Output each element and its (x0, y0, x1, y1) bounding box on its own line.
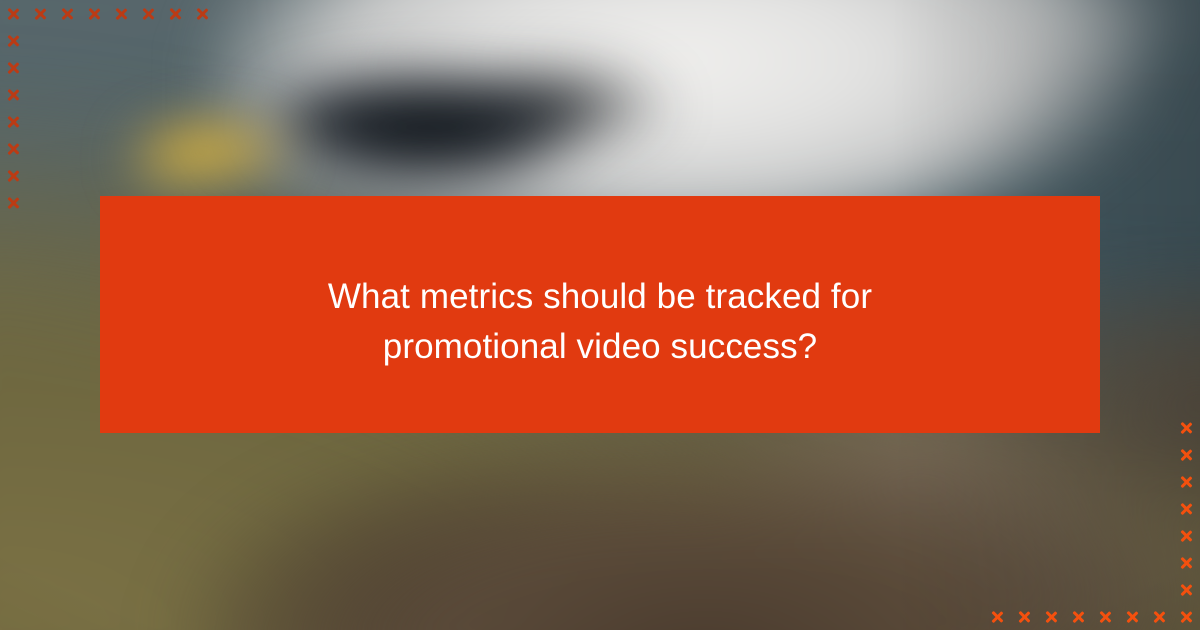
x-mark-icon (1180, 448, 1194, 462)
headline-banner: What metrics should be tracked for promo… (100, 196, 1100, 433)
x-mark-icon (1153, 610, 1167, 624)
x-mark-icon (115, 7, 129, 21)
cross-grid-bottom-right (984, 414, 1200, 630)
x-mark-icon (7, 34, 21, 48)
x-mark-icon (7, 61, 21, 75)
x-mark-icon (7, 115, 21, 129)
x-mark-icon (7, 7, 21, 21)
x-mark-icon (7, 142, 21, 156)
x-mark-icon (7, 169, 21, 183)
x-mark-icon (1072, 610, 1086, 624)
x-mark-icon (34, 7, 48, 21)
x-mark-icon (61, 7, 75, 21)
x-mark-icon (7, 196, 21, 210)
x-mark-icon (142, 7, 156, 21)
x-mark-icon (1045, 610, 1059, 624)
x-mark-icon (88, 7, 102, 21)
promo-card: What metrics should be tracked for promo… (0, 0, 1200, 630)
x-mark-icon (1180, 421, 1194, 435)
x-mark-icon (1099, 610, 1113, 624)
x-mark-icon (991, 610, 1005, 624)
cross-grid-top-left (0, 0, 216, 216)
x-mark-icon (1180, 610, 1194, 624)
x-mark-icon (1018, 610, 1032, 624)
x-mark-icon (1180, 583, 1194, 597)
headline-text: What metrics should be tracked for promo… (328, 258, 872, 372)
x-mark-icon (1180, 556, 1194, 570)
x-mark-icon (7, 88, 21, 102)
x-mark-icon (169, 7, 183, 21)
x-mark-icon (1180, 502, 1194, 516)
x-mark-icon (1126, 610, 1140, 624)
x-mark-icon (1180, 529, 1194, 543)
x-mark-icon (196, 7, 210, 21)
x-mark-icon (1180, 475, 1194, 489)
